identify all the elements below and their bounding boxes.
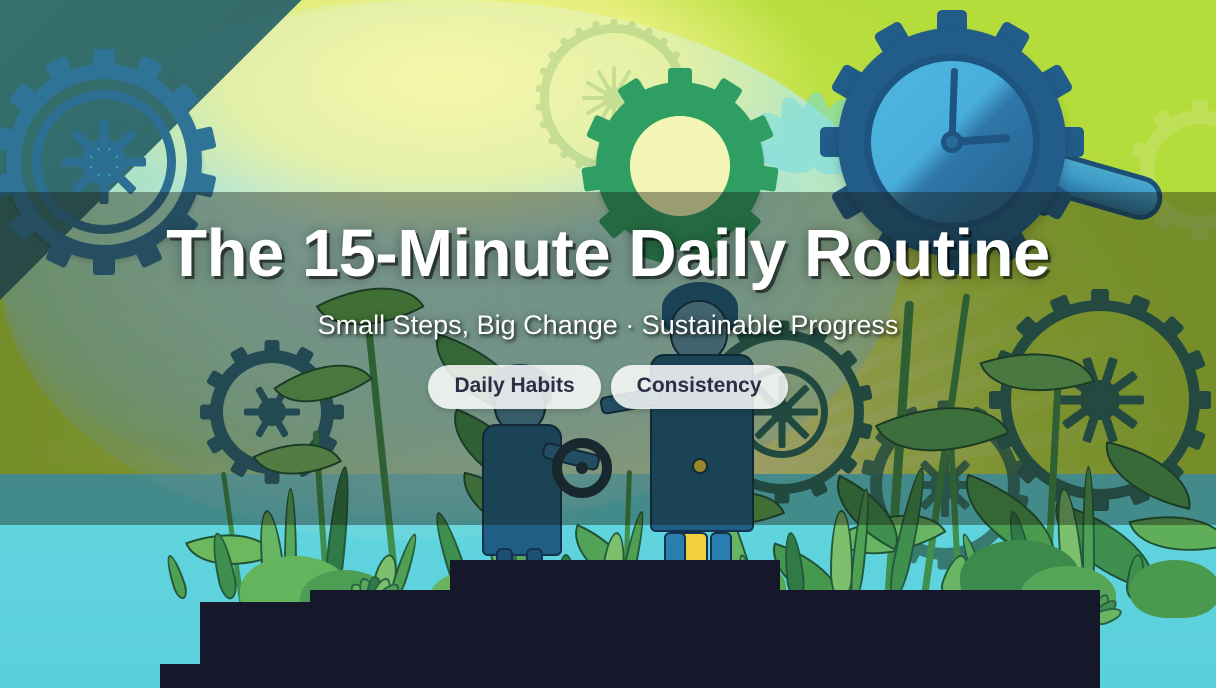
podium-icon <box>160 664 1060 688</box>
tag-daily-habits[interactable]: Daily Habits <box>428 365 600 409</box>
gear-tooth <box>668 68 692 96</box>
tag-consistency[interactable]: Consistency <box>611 365 788 409</box>
gear-tooth <box>93 49 115 79</box>
gear-tooth <box>748 164 779 192</box>
plant-bush <box>1130 560 1216 618</box>
gear-tooth <box>581 164 612 192</box>
gear-tooth <box>611 19 618 29</box>
hero-content: The 15-Minute Daily Routine Small Steps,… <box>0 192 1216 525</box>
hero-banner: The 15-Minute Daily Routine Small Steps,… <box>0 0 1216 688</box>
tag-row: Daily Habits Consistency <box>428 365 787 409</box>
gear-tooth <box>1192 100 1208 120</box>
page-title: The 15-Minute Daily Routine <box>166 218 1050 290</box>
gear-tooth <box>535 85 546 93</box>
hero-subtitle: Small Steps, Big Change · Sustainable Pr… <box>318 310 899 341</box>
